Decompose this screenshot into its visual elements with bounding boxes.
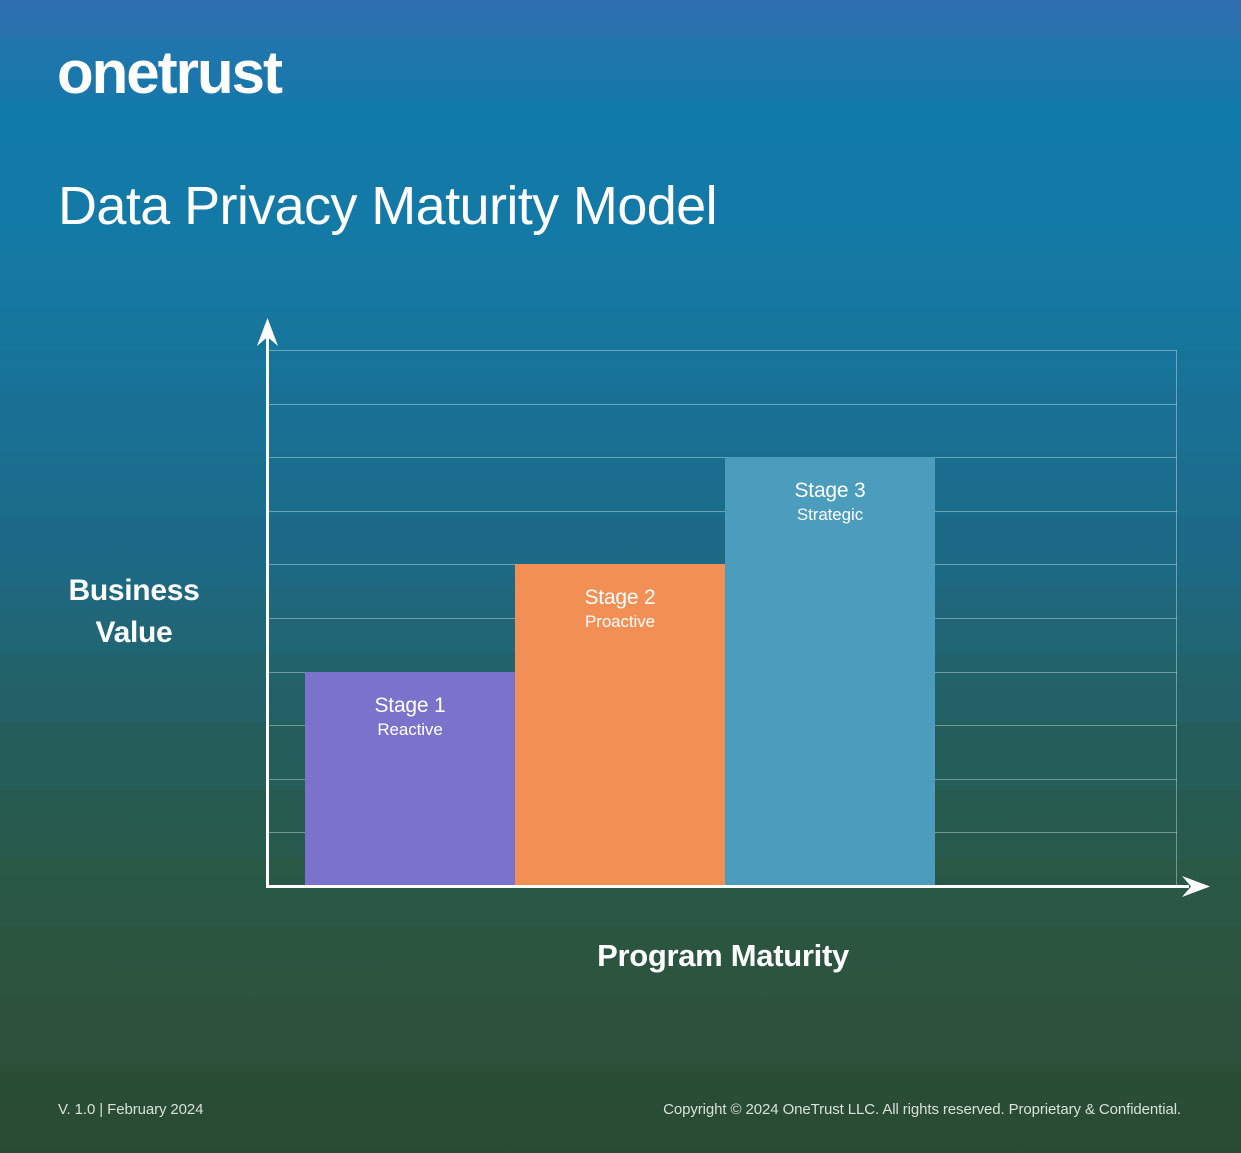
x-axis-label: Program Maturity (423, 938, 1023, 974)
chart-grid-right-edge (1176, 350, 1177, 886)
bar-stage-2[interactable]: Stage 2Proactive (515, 564, 725, 886)
bar-stage-1[interactable]: Stage 1Reactive (305, 672, 515, 886)
x-axis-line (266, 885, 1189, 888)
slide-canvas: onetrust Data Privacy Maturity Model Sta… (0, 0, 1241, 1153)
grid-line (268, 457, 1177, 458)
bar-label: Stage 2 (515, 585, 725, 611)
maturity-bar-chart: Stage 1ReactiveStage 2ProactiveStage 3St… (0, 0, 1241, 1153)
bar-stage-3[interactable]: Stage 3Strategic (725, 457, 935, 886)
bar-sublabel: Strategic (725, 504, 935, 526)
arrow-right-icon (1180, 874, 1210, 899)
bar-sublabel: Reactive (305, 719, 515, 741)
version-text: V. 1.0 | February 2024 (58, 1101, 203, 1118)
grid-line (268, 511, 1177, 512)
y-axis-line (266, 336, 269, 888)
grid-line (268, 350, 1177, 351)
arrow-up-icon (256, 318, 279, 348)
bar-sublabel: Proactive (515, 611, 725, 633)
copyright-text: Copyright © 2024 OneTrust LLC. All right… (663, 1101, 1181, 1118)
bar-label: Stage 3 (725, 478, 935, 504)
grid-line (268, 404, 1177, 405)
y-axis-label: BusinessValue (28, 570, 240, 654)
y-axis-label-text: BusinessValue (69, 574, 200, 649)
bar-label: Stage 1 (305, 693, 515, 719)
